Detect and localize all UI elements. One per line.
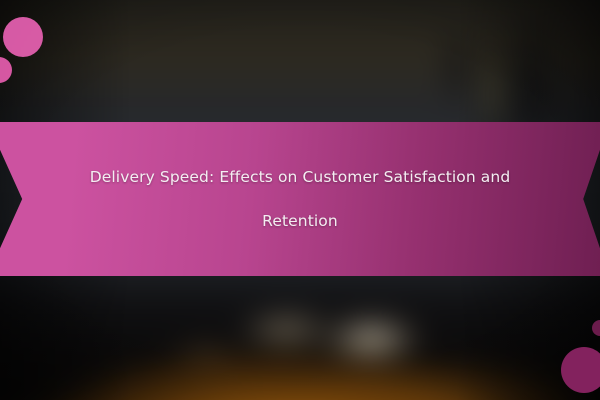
decorative-circle-top-left-large	[3, 17, 43, 57]
title-card: Delivery Speed: Effects on Customer Sati…	[0, 0, 600, 400]
title-banner: Delivery Speed: Effects on Customer Sati…	[0, 122, 600, 276]
page-title: Delivery Speed: Effects on Customer Sati…	[84, 155, 516, 243]
decorative-circle-bottom-right	[561, 347, 600, 393]
